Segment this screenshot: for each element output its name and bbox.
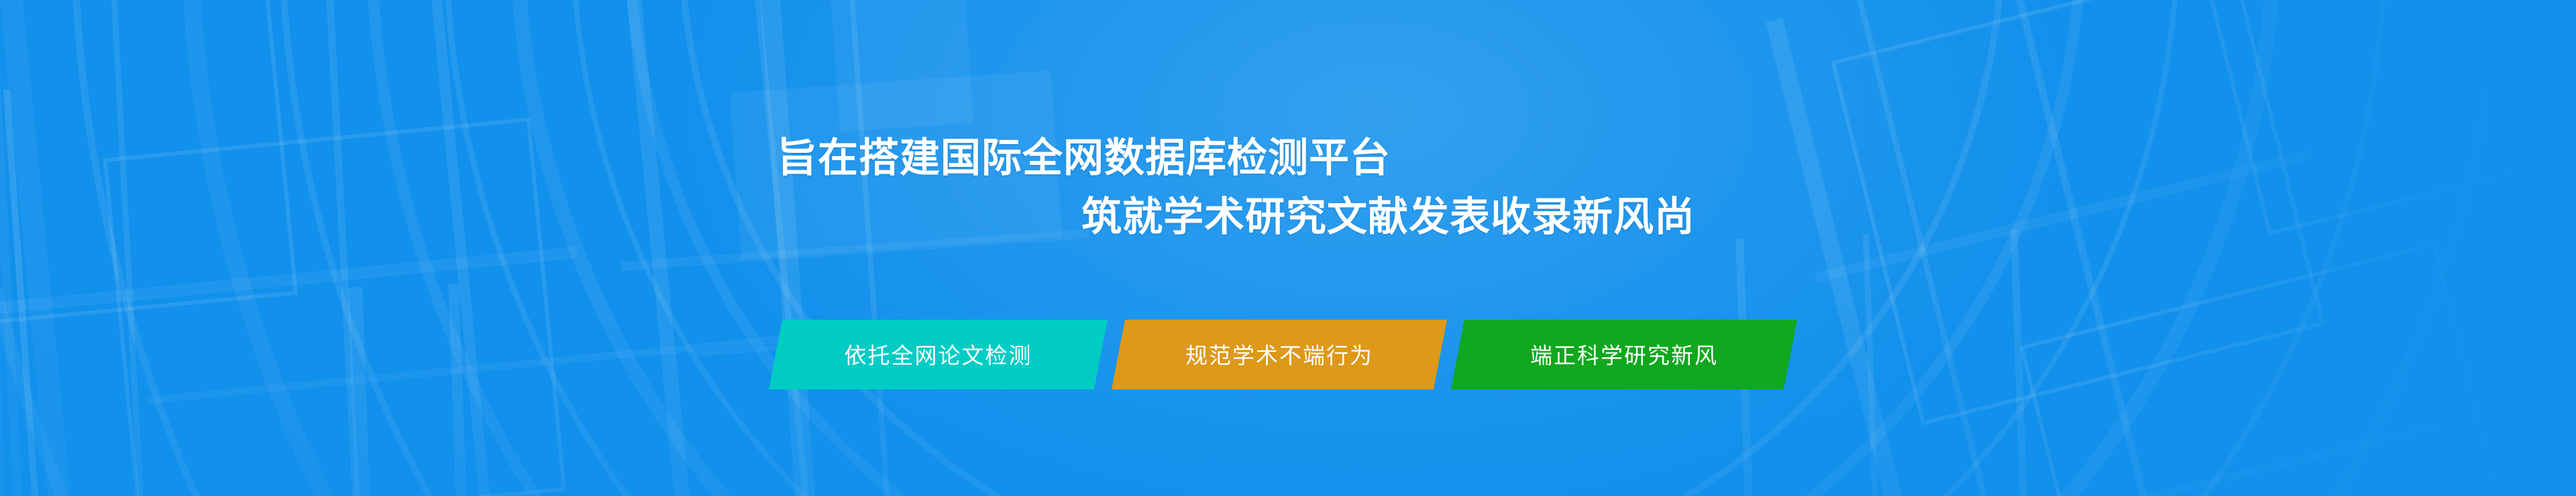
- badge-research-integrity[interactable]: 端正科学研究新风: [1451, 320, 1797, 389]
- background-stripes-left: [0, 0, 2576, 495]
- background-right-fade: [0, 0, 2576, 496]
- badge-label: 规范学术不端行为: [1185, 338, 1373, 370]
- badge-label: 端正科学研究新风: [1530, 338, 1718, 370]
- background-grid-center: [3, 0, 2576, 496]
- headline-line-1: 旨在搭建国际全网数据库检测平台: [777, 135, 1391, 181]
- background-grid-right: [76, 0, 2576, 496]
- background-arc-pattern: [0, 0, 2576, 496]
- background-stripes-bottom: [0, 0, 2575, 496]
- badge-paper-detection[interactable]: 依托全网论文检测: [769, 320, 1108, 389]
- feature-badge-strip: 依托全网论文检测 规范学术不端行为 端正科学研究新风: [765, 315, 1838, 395]
- background-bottom-fade: [0, 0, 2576, 496]
- badge-label: 依托全网论文检测: [845, 338, 1032, 370]
- headline-line-2: 筑就学术研究文献发表收录新风尚: [1081, 194, 1695, 240]
- badge-academic-misconduct[interactable]: 规范学术不端行为: [1112, 320, 1447, 389]
- hero-banner: 旨在搭建国际全网数据库检测平台 筑就学术研究文献发表收录新风尚 依托全网论文检测…: [0, 0, 2576, 496]
- background-grid-left: [0, 0, 2576, 494]
- background-glow: [0, 0, 2576, 496]
